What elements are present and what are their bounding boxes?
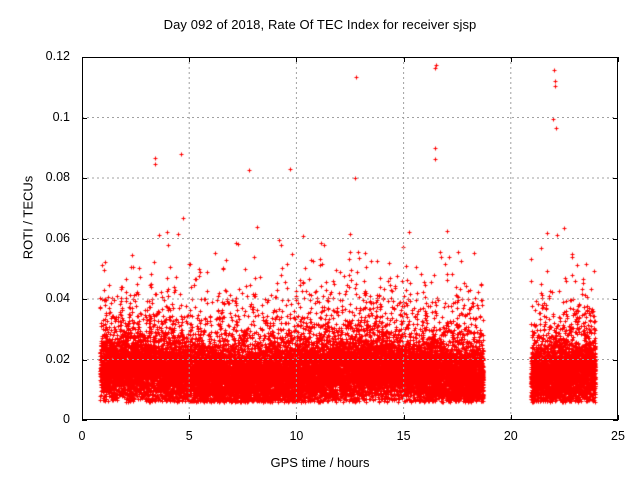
- scatter-plot-canvas: [82, 57, 618, 420]
- y-tick-label: 0.06: [0, 231, 70, 245]
- x-tick-label: 25: [588, 429, 640, 443]
- y-axis-title: ROTI / TECUs: [21, 138, 36, 298]
- x-axis-title: GPS time / hours: [0, 455, 640, 470]
- y-tick-label: 0.12: [0, 49, 70, 63]
- y-tick-label: 0.08: [0, 170, 70, 184]
- x-tick-label: 20: [481, 429, 541, 443]
- chart-title: Day 092 of 2018, Rate Of TEC Index for r…: [0, 17, 640, 32]
- y-tick-label: 0: [0, 412, 70, 426]
- y-tick-label: 0.1: [0, 110, 70, 124]
- y-tick-label: 0.04: [0, 291, 70, 305]
- x-tick-label: 15: [374, 429, 434, 443]
- y-tick-label: 0.02: [0, 352, 70, 366]
- x-tick-label: 0: [52, 429, 112, 443]
- chart-figure: Day 092 of 2018, Rate Of TEC Index for r…: [0, 0, 640, 480]
- x-tick-label: 5: [159, 429, 219, 443]
- x-tick-label: 10: [266, 429, 326, 443]
